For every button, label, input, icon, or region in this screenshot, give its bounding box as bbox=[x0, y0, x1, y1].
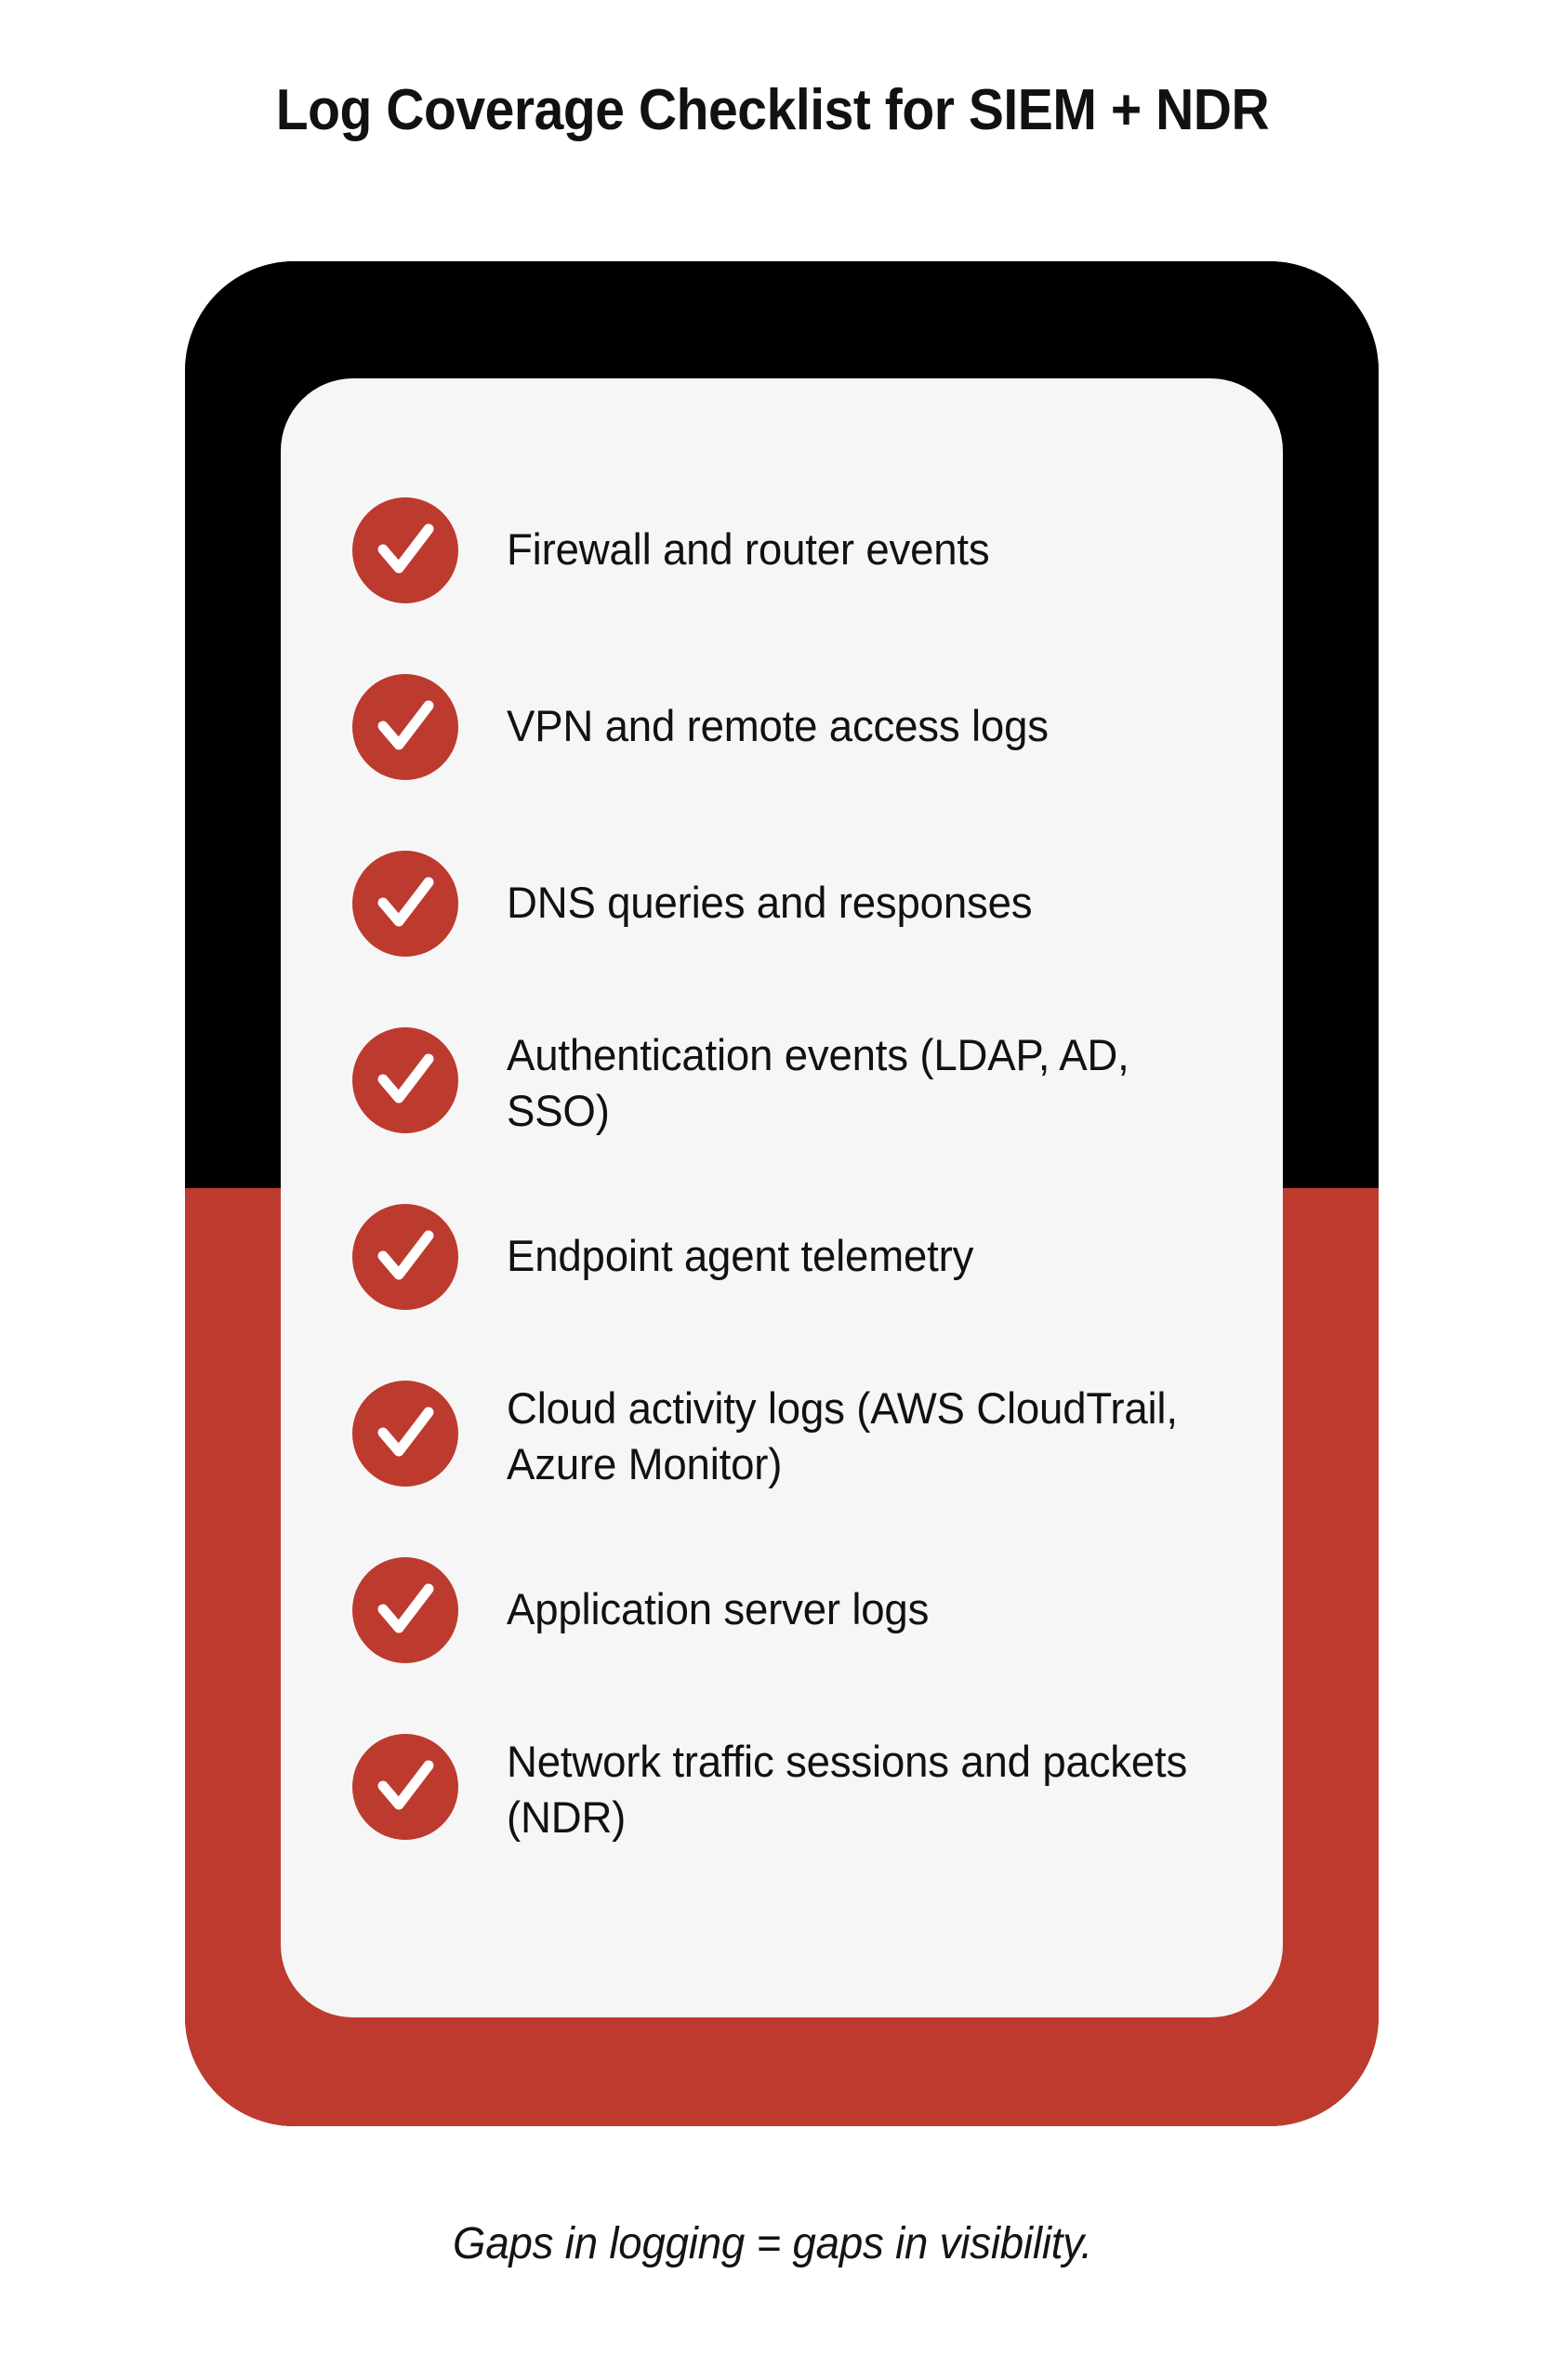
page-title: Log Coverage Checklist for SIEM + NDR bbox=[61, 76, 1483, 145]
checklist-item[interactable]: Cloud activity logs (AWS CloudTrail, Azu… bbox=[352, 1381, 1245, 1492]
checklist-item-label: Cloud activity logs (AWS CloudTrail, Azu… bbox=[507, 1381, 1222, 1492]
check-circle-icon[interactable] bbox=[352, 674, 458, 780]
check-circle-icon[interactable] bbox=[352, 497, 458, 603]
checklist-item[interactable]: Application server logs bbox=[352, 1557, 1245, 1663]
checklist-item-label: Authentication events (LDAP, AD, SSO) bbox=[507, 1027, 1222, 1139]
checklist-item-label: Endpoint agent telemetry bbox=[507, 1204, 1222, 1284]
checklist-item-label: Application server logs bbox=[507, 1557, 1222, 1637]
checklist-item-label: Network traffic sessions and packets (ND… bbox=[507, 1734, 1222, 1845]
footer-caption: Gaps in logging = gaps in visibility. bbox=[39, 2217, 1507, 2271]
checklist-item[interactable]: Network traffic sessions and packets (ND… bbox=[352, 1734, 1245, 1845]
check-circle-icon[interactable] bbox=[352, 851, 458, 957]
checklist-item[interactable]: DNS queries and responses bbox=[352, 851, 1245, 957]
check-circle-icon[interactable] bbox=[352, 1204, 458, 1310]
checklist: Firewall and router eventsVPN and remote… bbox=[281, 378, 1283, 2017]
checklist-item-label: DNS queries and responses bbox=[507, 851, 1222, 931]
checklist-item[interactable]: Authentication events (LDAP, AD, SSO) bbox=[352, 1027, 1245, 1139]
checklist-item-label: VPN and remote access logs bbox=[507, 674, 1222, 754]
checklist-item-label: Firewall and router events bbox=[507, 497, 1222, 577]
check-circle-icon[interactable] bbox=[352, 1734, 458, 1840]
checklist-item[interactable]: Endpoint agent telemetry bbox=[352, 1204, 1245, 1310]
check-circle-icon[interactable] bbox=[352, 1381, 458, 1487]
checklist-card: Firewall and router eventsVPN and remote… bbox=[281, 378, 1283, 2017]
check-circle-icon[interactable] bbox=[352, 1557, 458, 1663]
checklist-item[interactable]: VPN and remote access logs bbox=[352, 674, 1245, 780]
check-circle-icon[interactable] bbox=[352, 1027, 458, 1133]
checklist-item[interactable]: Firewall and router events bbox=[352, 497, 1245, 603]
